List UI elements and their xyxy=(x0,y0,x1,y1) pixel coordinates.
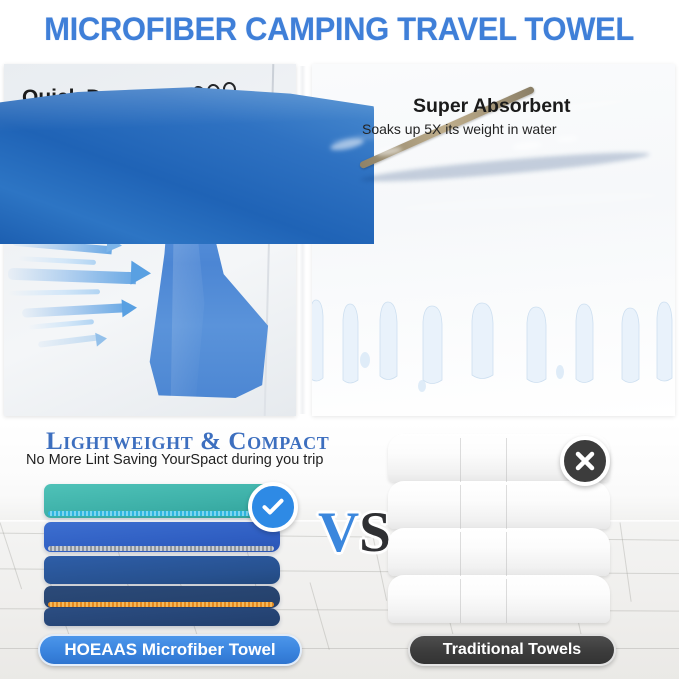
towel-crease-decor xyxy=(506,579,507,623)
x-circle-icon xyxy=(560,436,610,486)
airflow-arrow-head xyxy=(122,299,138,318)
airflow-wisp-decor xyxy=(18,256,96,265)
comparison-subtitle: No More Lint Saving YourSpact during you… xyxy=(26,452,323,468)
airflow-wisp-decor xyxy=(8,289,100,296)
towel-crease-decor xyxy=(460,485,461,529)
towel-trim-decor xyxy=(48,511,274,516)
towel-trim-decor xyxy=(48,546,274,551)
versus-letter-s: S xyxy=(359,501,391,564)
super-absorbent-subtitle: Soaks up 5X its weight in water xyxy=(362,121,557,139)
wet-blue-towel-image xyxy=(0,84,374,244)
header-banner: MICROFIBER CAMPING TRAVEL TOWEL xyxy=(0,0,679,58)
versus-letter-v: V xyxy=(318,501,359,564)
towel-layer xyxy=(388,528,610,576)
towel-crease-decor xyxy=(460,438,461,482)
check-circle-icon xyxy=(248,482,298,532)
airflow-arrow-head xyxy=(95,331,108,346)
towel-crease-decor xyxy=(460,532,461,576)
towel-crease-decor xyxy=(506,532,507,576)
traditional-towel-label: Traditional Towels xyxy=(408,634,616,666)
versus-label: VS xyxy=(318,504,391,561)
towel-layer xyxy=(388,481,610,529)
super-absorbent-title: Super Absorbent xyxy=(413,95,570,118)
airflow-arrow-head xyxy=(131,261,152,286)
airflow-arrow-shaft xyxy=(8,268,136,284)
airflow-arrow-shaft xyxy=(22,303,126,317)
towel-crease-decor xyxy=(506,438,507,482)
towel-layer xyxy=(44,556,280,584)
towel-crease-decor xyxy=(506,485,507,529)
product-infographic: MICROFIBER CAMPING TRAVEL TOWEL Quick Dr… xyxy=(0,0,679,679)
airflow-arrow-shaft xyxy=(38,334,100,348)
airflow-wisp-decor xyxy=(28,319,94,330)
towel-crease-decor xyxy=(460,579,461,623)
page-title: MICROFIBER CAMPING TRAVEL TOWEL xyxy=(45,11,635,48)
towel-layer xyxy=(44,608,280,626)
microfiber-towel-stack xyxy=(44,484,280,626)
towel-trim-decor xyxy=(48,602,274,607)
microfiber-towel-label: HOEAAS Microfiber Towel xyxy=(38,634,302,666)
towel-layer xyxy=(388,575,610,623)
